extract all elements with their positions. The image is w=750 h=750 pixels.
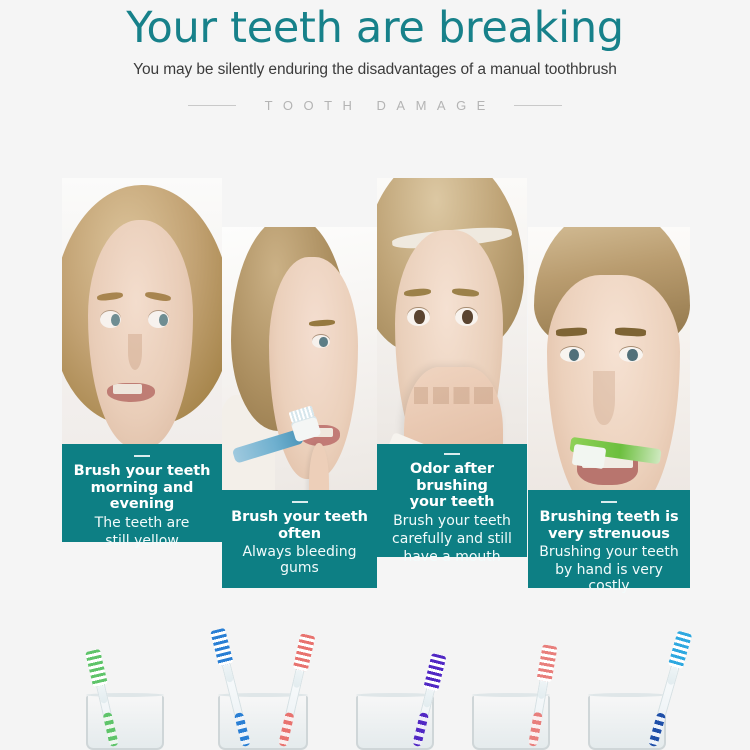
caption-heading-line1: Brush your teeth often [230,509,369,542]
photo-fill [528,227,690,527]
bristles [293,633,316,671]
caption-card-bad-odor: Odor after brushing your teeth Brush you… [377,444,527,557]
caption-heading-line1: Brush your teeth [70,463,214,480]
caption-body-line1: Brushing your teeth [536,544,682,560]
caption-heading-line1: Odor after brushing [385,461,519,494]
caption-heading-line2: very strenuous [536,526,682,543]
caption-body-line2: carefully and still [385,531,519,547]
caption-body-line3: have a mouth [385,549,519,565]
caption-card-strenuous: Brushing teeth is very strenuous Brushin… [528,490,690,588]
divider-dash [444,453,460,455]
caption-heading-line1: Brushing teeth is [536,509,682,526]
caption-card-yellow-teeth: Brush your teeth morning and evening The… [62,444,222,542]
caption-card-bleeding-gums: Brush your teeth often Always bleeding g… [222,490,377,588]
bristles [668,631,692,670]
caption-body-line1: Always bleeding gums [230,544,369,576]
caption-body-line2: by hand is very costly [536,562,682,594]
bristles [423,653,446,692]
caption-heading-line2: morning and evening [70,480,214,513]
photo-fill [222,227,377,527]
promo-page: Your teeth are breaking You may be silen… [0,0,750,750]
caption-heading-line2: your teeth [385,494,519,511]
divider-dash [601,501,617,503]
divider-dash [292,501,308,503]
photo-collage: Brush your teeth morning and evening The… [0,0,750,600]
caption-body-line1: Brush your teeth [385,513,519,529]
bristles [537,644,558,682]
caption-body-line2: still yellow [70,533,214,549]
divider-dash [134,455,150,457]
glass-icon [86,696,164,750]
bristles [210,628,233,667]
photo-man-brushing [528,227,690,527]
caption-body-line1: The teeth are [70,515,214,531]
brush-cyan [648,633,689,747]
toothbrush-band [0,600,750,750]
bristles [85,649,108,687]
photo-woman-checking-gums [222,227,377,527]
